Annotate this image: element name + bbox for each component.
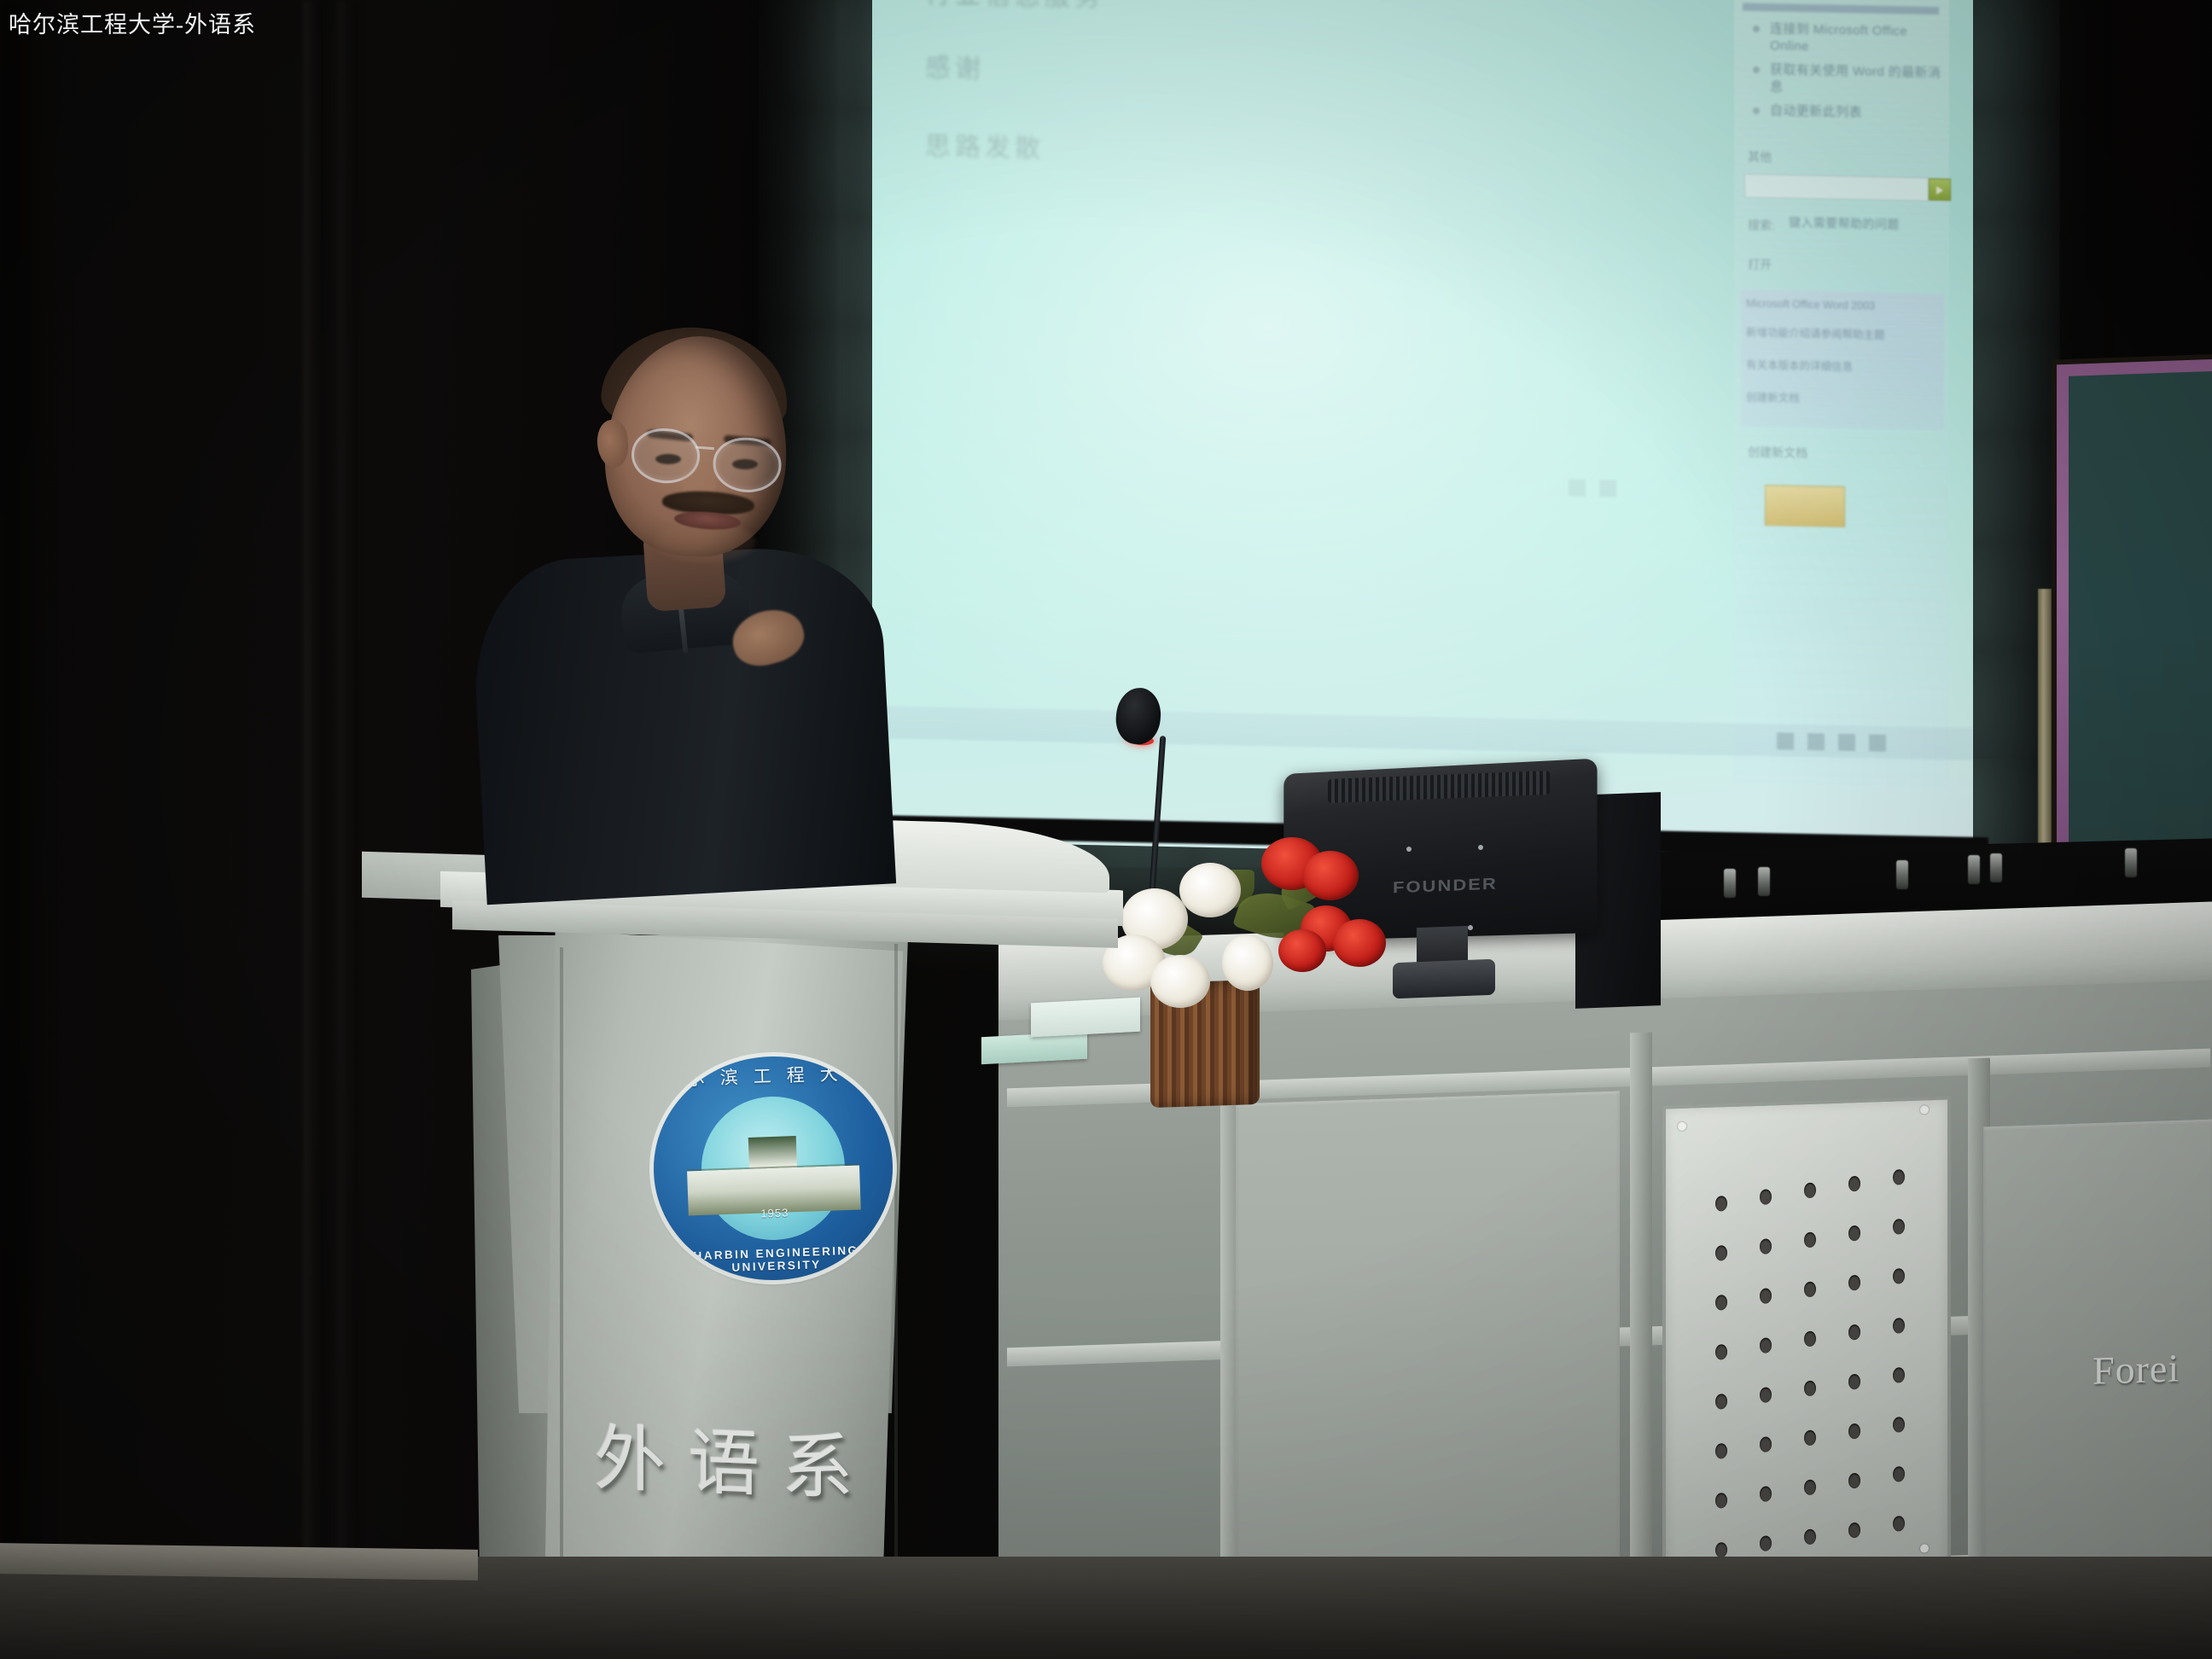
podium-seam	[560, 947, 563, 1630]
document-thumbnail[interactable]	[1765, 485, 1845, 527]
grille-hole	[1804, 1183, 1816, 1198]
red-rose	[1278, 929, 1326, 972]
task-pane-item[interactable]: 获取有关使用 Word 的最新消息	[1770, 61, 1947, 99]
grille-hole	[1804, 1430, 1816, 1446]
white-rose	[1179, 863, 1241, 917]
wall-hook	[1896, 860, 1908, 889]
grille-hole	[1848, 1225, 1860, 1241]
grille-hole	[1893, 1169, 1905, 1185]
grille-hole	[1848, 1275, 1860, 1290]
grille-hole	[1893, 1219, 1905, 1234]
monitor-screw-icon	[1406, 847, 1412, 852]
search-go-button[interactable]	[1929, 178, 1951, 201]
screw-icon	[1920, 1105, 1929, 1114]
grille-hole	[1848, 1473, 1860, 1488]
monitor-screw-icon	[1478, 845, 1483, 850]
grille-hole	[1893, 1516, 1905, 1531]
emblem-chinese-name: 哈尔滨工程大学	[650, 1058, 890, 1092]
grille-hole	[1848, 1522, 1860, 1538]
task-pane-title: Office Online	[1768, 0, 1890, 3]
grille-hole	[1760, 1436, 1772, 1452]
slide-text-line: 思路发散	[925, 125, 1045, 165]
grille-hole	[1804, 1282, 1816, 1297]
office-online-task-pane: Office Online 连接到 Microsoft Office Onlin…	[1734, 0, 1949, 787]
grille-hole	[1893, 1318, 1905, 1333]
wall-hook	[1724, 869, 1736, 898]
desk-front-text: Forei	[2093, 1345, 2180, 1393]
grille-hole	[1715, 1344, 1727, 1359]
speaker-person	[478, 324, 922, 888]
grille-hole	[1893, 1466, 1905, 1481]
app-icon	[1869, 734, 1886, 751]
grille-hole	[1804, 1529, 1816, 1545]
screw-icon	[1920, 1544, 1929, 1552]
flower-bouquet	[1101, 841, 1382, 1028]
grille-hole	[1715, 1196, 1727, 1211]
grille-hole	[1760, 1238, 1772, 1254]
monitor-base	[1393, 959, 1495, 999]
speaker-grille-panel	[1662, 1096, 1951, 1590]
grille-hole	[1893, 1268, 1905, 1284]
monitor-screw-icon	[1468, 925, 1473, 930]
slide-text-line: 行业信息服务	[925, 0, 1104, 15]
app-icon	[1569, 479, 1586, 496]
bullet-icon	[1753, 26, 1760, 32]
desk-panel	[1236, 1091, 1620, 1582]
board-support-post	[2038, 589, 2052, 870]
wall-hook	[2125, 848, 2137, 877]
podium-department-text: 外语系	[594, 1401, 876, 1516]
help-subheading: 创建新文档	[1748, 444, 1807, 462]
grille-hole	[1760, 1535, 1772, 1551]
lectern-podium: 哈尔滨工程大学 1953 HARBIN ENGINEERING UNIVERSI…	[362, 819, 1113, 1659]
open-label: 打开	[1748, 256, 1772, 274]
grille-hole	[1715, 1295, 1727, 1310]
task-pane-item[interactable]: 自动更新此列表	[1770, 102, 1947, 123]
grille-hole	[1848, 1324, 1860, 1340]
bullet-icon	[1753, 67, 1760, 73]
white-rose	[1150, 955, 1210, 1008]
task-pane-divider	[1743, 3, 1939, 15]
word-icon	[1807, 733, 1825, 750]
search-label: 搜索:	[1748, 217, 1775, 235]
curtain-fold	[303, 0, 325, 1659]
grille-hole	[1893, 1417, 1905, 1432]
wall-hook	[1758, 867, 1770, 896]
grille-hole	[1715, 1443, 1727, 1458]
grille-hole	[1760, 1486, 1772, 1501]
grille-hole	[1715, 1542, 1727, 1557]
emblem-english-name: HARBIN ENGINEERING UNIVERSITY	[656, 1243, 896, 1277]
screw-icon	[1678, 1122, 1686, 1131]
help-search-input[interactable]	[1744, 174, 1929, 201]
wall-hook	[1968, 855, 1980, 884]
white-rose	[1222, 934, 1273, 991]
window-icon	[1838, 734, 1855, 751]
university-emblem: 哈尔滨工程大学 1953 HARBIN ENGINEERING UNIVERSI…	[650, 1052, 897, 1284]
grille-hole	[1848, 1423, 1860, 1439]
grille-hole	[1804, 1331, 1816, 1347]
slide-text-line: 感谢	[925, 46, 985, 84]
grille-hole	[1760, 1288, 1772, 1303]
grille-hole	[1893, 1367, 1905, 1382]
red-rose	[1333, 919, 1386, 967]
photo-watermark: 哈尔滨工程大学-外语系	[9, 6, 256, 39]
emblem-ring: 哈尔滨工程大学 1953 HARBIN ENGINEERING UNIVERSI…	[650, 1052, 897, 1284]
grille-hole	[1848, 1374, 1860, 1389]
bullet-icon	[1753, 108, 1760, 114]
grille-hole	[1760, 1387, 1772, 1402]
grille-hole	[1760, 1189, 1772, 1204]
task-pane-more-label: 其他	[1748, 148, 1772, 166]
grille-hole	[1715, 1245, 1727, 1260]
grille-hole	[1804, 1381, 1816, 1396]
projection-screen: 行业信息服务 感谢 思路发散 Office Online 连接到 Microso…	[872, 0, 1973, 863]
grille-hole	[1715, 1493, 1727, 1508]
grille-hole	[1848, 1176, 1860, 1191]
red-rose	[1302, 851, 1359, 900]
desk-post	[1630, 1033, 1652, 1631]
lecture-hall-photo: 行业信息服务 感谢 思路发散 Office Online 连接到 Microso…	[0, 0, 2212, 1659]
app-icon	[1599, 480, 1616, 497]
start-icon	[1777, 732, 1794, 749]
wall-hook	[1990, 853, 2002, 882]
grille-hole	[1760, 1337, 1772, 1353]
grille-hole	[1804, 1232, 1816, 1248]
wall-board	[2057, 359, 2212, 903]
grille-hole	[1804, 1480, 1816, 1495]
curtain-shadow	[0, 0, 51, 1659]
curtain-fold	[337, 0, 359, 1659]
podium-seam	[894, 944, 898, 1627]
task-pane-item[interactable]: 连接到 Microsoft Office Online	[1770, 20, 1947, 58]
monitor-brand-label: FOUNDER	[1393, 875, 1498, 898]
board-surface	[2069, 371, 2212, 890]
projected-slide: 行业信息服务 感谢 思路发散 Office Online 连接到 Microso…	[872, 0, 1973, 863]
grille-hole	[1715, 1394, 1727, 1409]
search-value-text: 键入需要帮助的问题	[1789, 214, 1966, 235]
